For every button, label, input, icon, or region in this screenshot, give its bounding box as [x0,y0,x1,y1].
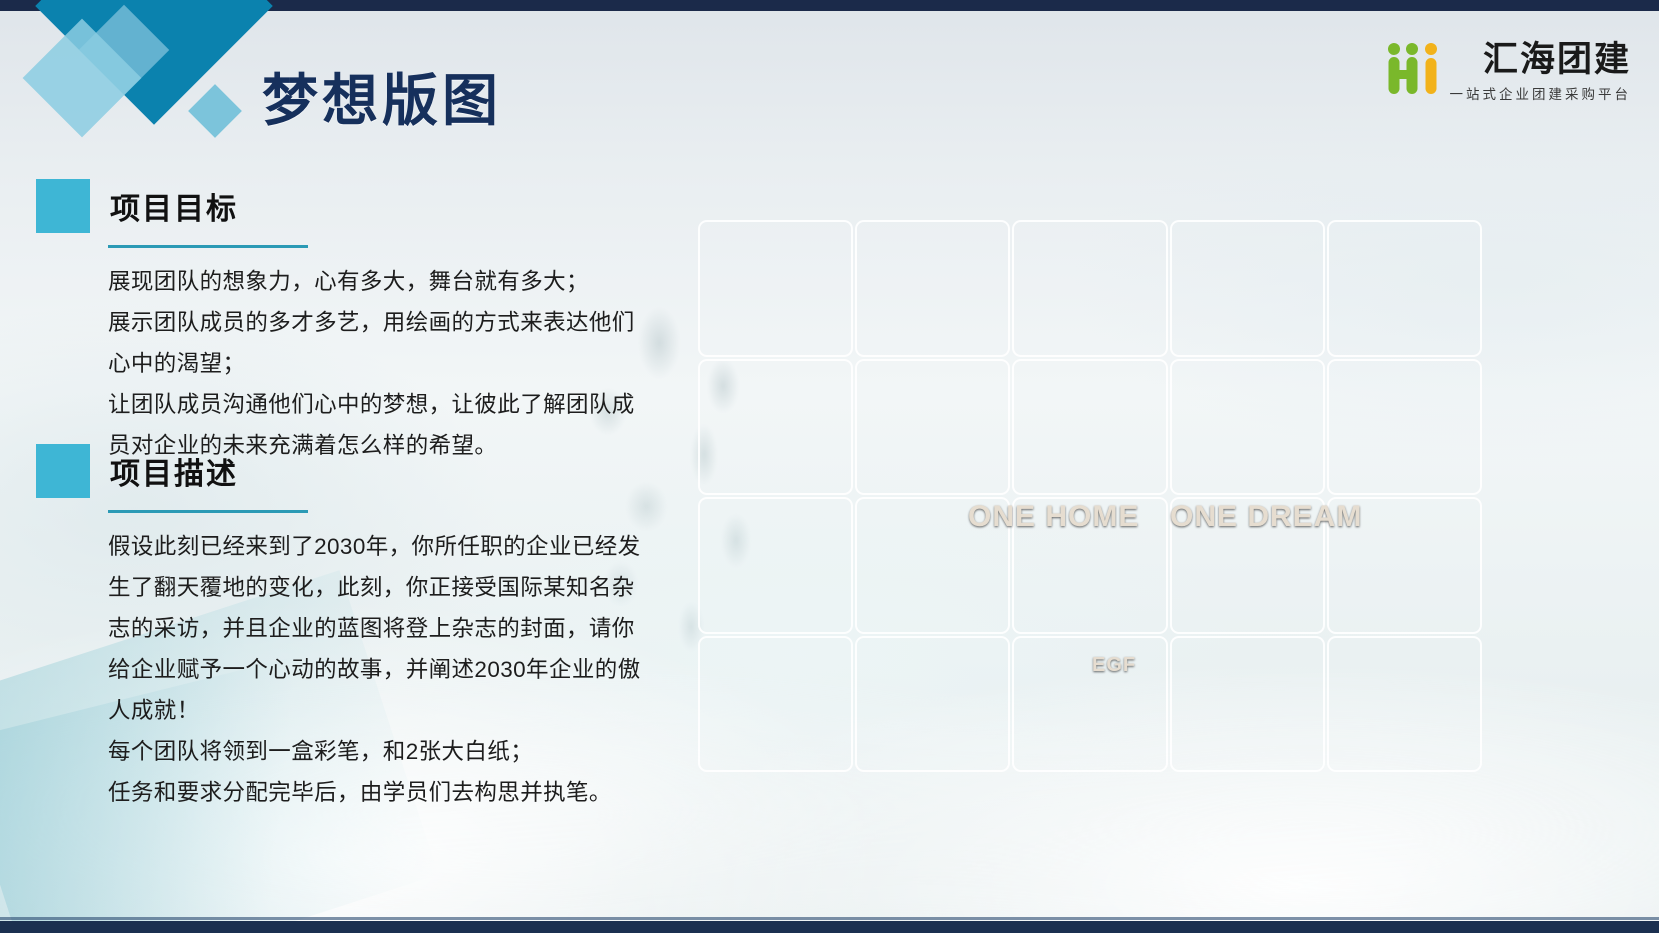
photo-tile [700,638,851,771]
photo-slice [1014,638,1165,771]
photo-slice [1329,499,1480,632]
section-desc-title: 项目描述 [110,449,238,493]
brand-logo-text: 汇海团建 一站式企业团建采购平台 [1450,42,1632,103]
photo-slice [1014,361,1165,494]
diamond-primary-shape [35,0,273,125]
photo-mosaic: ONE HOMEONE DREAMEGF [700,222,1480,770]
photo-slice [857,499,1008,632]
photo-tile [857,638,1008,771]
bottom-edge-bar [0,921,1659,933]
photo-tile [1172,638,1323,771]
corner-diamond-decoration [0,0,300,200]
photo-slice [700,361,851,494]
section-desc-header: 项目描述 [36,443,641,499]
photo-slice [1329,222,1480,355]
section-desc-body: 假设此刻已经来到了2030年，你所任职的企业已经发 生了翻天覆地的变化，此刻，你… [108,526,641,813]
section-project-goal: 项目目标 展现团队的想象力，心有多大，舞台就有多大； 展示团队成员的多才多艺，用… [36,178,635,466]
page-title: 梦想版图 [262,56,502,137]
photo-slice [1172,361,1323,494]
photo-tile [700,361,851,494]
brand-tagline: 一站式企业团建采购平台 [1450,83,1632,103]
photo-tile [1329,499,1480,632]
body-line: 给企业赋予一个心动的故事，并阐述2030年企业的傲 [108,649,641,690]
photo-slice [1172,222,1323,355]
photo-slice [700,499,851,632]
photo-slice [857,638,1008,771]
photo-tile [857,222,1008,355]
photo-tile [1329,361,1480,494]
photo-tile [1172,222,1323,355]
body-line: 心中的渴望； [108,343,635,384]
section-desc-bullet-square [36,444,90,498]
body-line: 假设此刻已经来到了2030年，你所任职的企业已经发 [108,526,641,567]
photo-slice [700,638,851,771]
photo-slice [857,222,1008,355]
body-line: 展现团队的想象力，心有多大，舞台就有多大； [108,261,635,302]
photo-slice [1014,222,1165,355]
section-goal-body: 展现团队的想象力，心有多大，舞台就有多大； 展示团队成员的多才多艺，用绘画的方式… [108,261,635,466]
photo-tile [1172,499,1323,632]
brand-logo: 汇海团建 一站式企业团建采购平台 [1385,42,1632,103]
section-goal-title: 项目目标 [110,184,238,228]
photo-tile [1329,638,1480,771]
photo-slice [1172,499,1323,632]
photo-tile [1172,361,1323,494]
photo-tile [857,499,1008,632]
section-goal-header: 项目目标 [36,178,635,234]
photo-tile [857,361,1008,494]
body-line: 生了翻天覆地的变化，此刻，你正接受国际某知名杂 [108,567,641,608]
photo-slice [1329,361,1480,494]
body-line: 每个团队将领到一盒彩笔，和2张大白纸； [108,731,641,772]
photo-slice [700,222,851,355]
hi-people-icon [1385,42,1441,96]
slide-canvas: 梦想版图 汇海团建 一站式企业团建采购平台 [0,0,1659,933]
section-goal-rule [108,245,308,248]
photo-tile [1014,638,1165,771]
photo-tile [1014,361,1165,494]
photo-slice [1329,638,1480,771]
section-project-description: 项目描述 假设此刻已经来到了2030年，你所任职的企业已经发 生了翻天覆地的变化… [36,443,641,813]
brand-name: 汇海团建 [1483,42,1631,79]
body-line: 志的采访，并且企业的蓝图将登上杂志的封面，请你 [108,608,641,649]
photo-tile [1014,499,1165,632]
top-edge-bar [0,0,1659,11]
body-line: 展示团队成员的多才多艺，用绘画的方式来表达他们 [108,302,635,343]
diamond-small-shape [188,84,242,138]
photo-slice [1172,638,1323,771]
photo-tile [1014,222,1165,355]
photo-tile [700,222,851,355]
diamond-light-shape [23,19,142,138]
diamond-pale-shape [79,5,170,96]
body-line: 人成就！ [108,690,641,731]
section-goal-bullet-square [36,179,90,233]
photo-tile [700,499,851,632]
photo-slice [857,361,1008,494]
photo-slice [1014,499,1165,632]
section-desc-rule [108,510,308,513]
body-line: 让团队成员沟通他们心中的梦想，让彼此了解团队成 [108,384,635,425]
photo-tile [1329,222,1480,355]
body-line: 任务和要求分配完毕后，由学员们去构思并执笔。 [108,772,641,813]
